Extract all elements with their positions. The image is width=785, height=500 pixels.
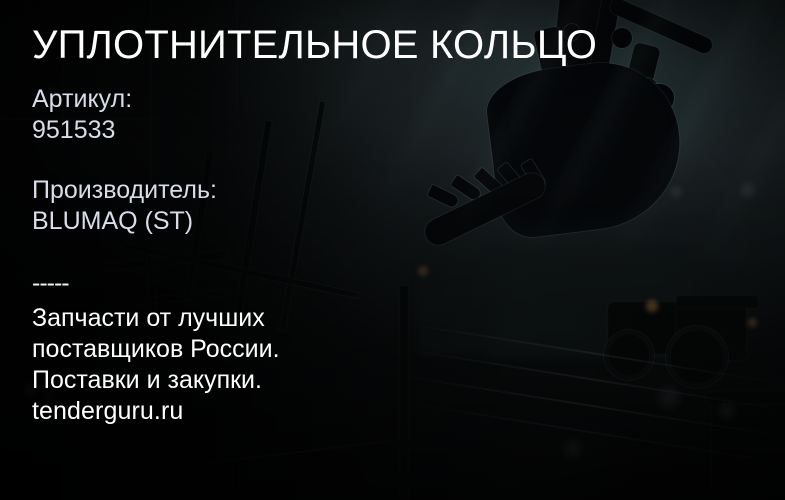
site-url: tenderguru.ru [32,396,280,427]
promo-block: Запчасти от лучших поставщиков России. П… [32,303,280,427]
article-field: Артикул: 951533 [32,84,132,146]
article-value: 951533 [32,115,132,146]
page-title: УПЛОТНИТЕЛЬНОЕ КОЛЬЦО [32,22,597,68]
card-content: УПЛОТНИТЕЛЬНОЕ КОЛЬЦО Артикул: 951533 Пр… [32,0,592,500]
manufacturer-label: Производитель: [32,175,217,206]
promo-line-3: Поставки и закупки. [32,365,280,396]
promo-line-1: Запчасти от лучших [32,303,280,334]
manufacturer-field: Производитель: BLUMAQ (ST) [32,175,217,237]
product-promo-card: УПЛОТНИТЕЛЬНОЕ КОЛЬЦО Артикул: 951533 Пр… [0,0,785,500]
promo-line-2: поставщиков России. [32,334,280,365]
text-divider: ----- [32,268,69,299]
article-label: Артикул: [32,84,132,115]
manufacturer-value: BLUMAQ (ST) [32,206,217,237]
